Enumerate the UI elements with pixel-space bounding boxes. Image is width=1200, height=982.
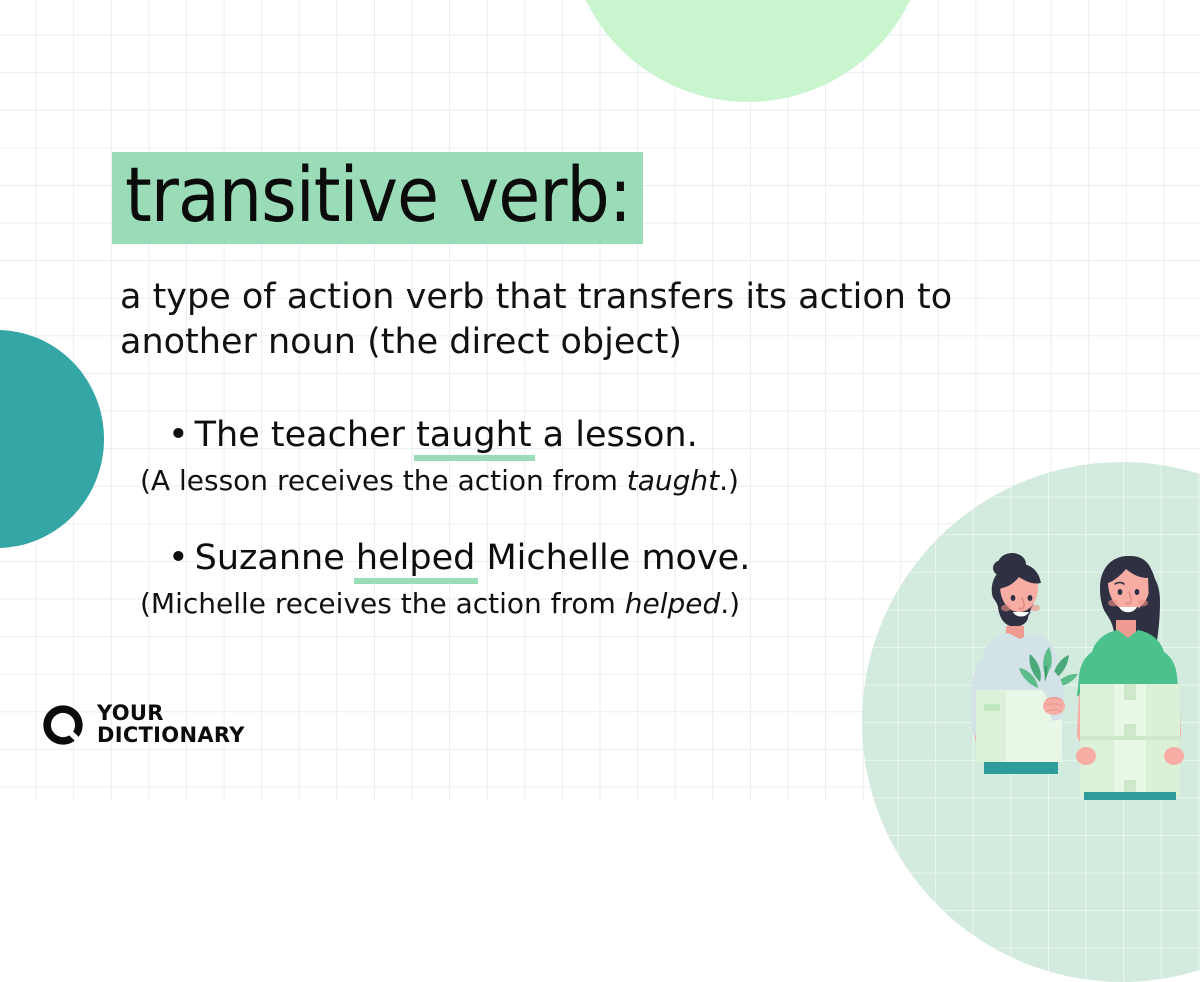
example-2-note-verb: helped <box>625 587 721 620</box>
page-title-wrapper: transitive verb: <box>112 152 643 244</box>
bullet-icon-1: • <box>168 415 189 455</box>
yourdictionary-logo[interactable]: YOUR DICTIONARY <box>40 702 245 748</box>
example-2-note-before: (Michelle receives the action from <box>140 587 625 620</box>
definition-text: a type of action verb that transfers its… <box>120 275 1070 365</box>
q-circle-icon <box>40 702 86 748</box>
logo-line-2: DICTIONARY <box>97 725 245 747</box>
example-2-text-before: Suzanne <box>195 538 356 578</box>
example-note-1: (A lesson receives the action from taugh… <box>140 464 1048 498</box>
example-sentence-1: •The teacher taught a lesson. <box>168 415 1048 456</box>
logo-line-1: YOUR <box>97 703 245 725</box>
example-item-1: •The teacher taught a lesson. (A lesson … <box>168 415 1048 498</box>
example-2-text-after: Michelle move. <box>475 538 750 578</box>
example-1-note-verb: taught <box>627 464 719 497</box>
example-2-note-after: .) <box>720 587 740 620</box>
example-1-note-before: (A lesson receives the action from <box>140 464 627 497</box>
example-1-text-before: The teacher <box>195 415 416 455</box>
example-1-note-after: .) <box>719 464 739 497</box>
example-1-verb: taught <box>416 415 531 456</box>
example-1-text-after: a lesson. <box>532 415 698 455</box>
example-note-2: (Michelle receives the action from helpe… <box>140 587 1048 621</box>
illustration-woman-right <box>1076 556 1184 800</box>
logo-wordmark: YOUR DICTIONARY <box>97 703 245 747</box>
bullet-icon-2: • <box>168 538 189 578</box>
example-2-verb: helped <box>356 538 475 579</box>
example-item-2: •Suzanne helped Michelle move. (Michelle… <box>168 538 1048 621</box>
example-sentence-2: •Suzanne helped Michelle move. <box>168 538 1048 579</box>
page-title: transitive verb: <box>112 152 643 244</box>
